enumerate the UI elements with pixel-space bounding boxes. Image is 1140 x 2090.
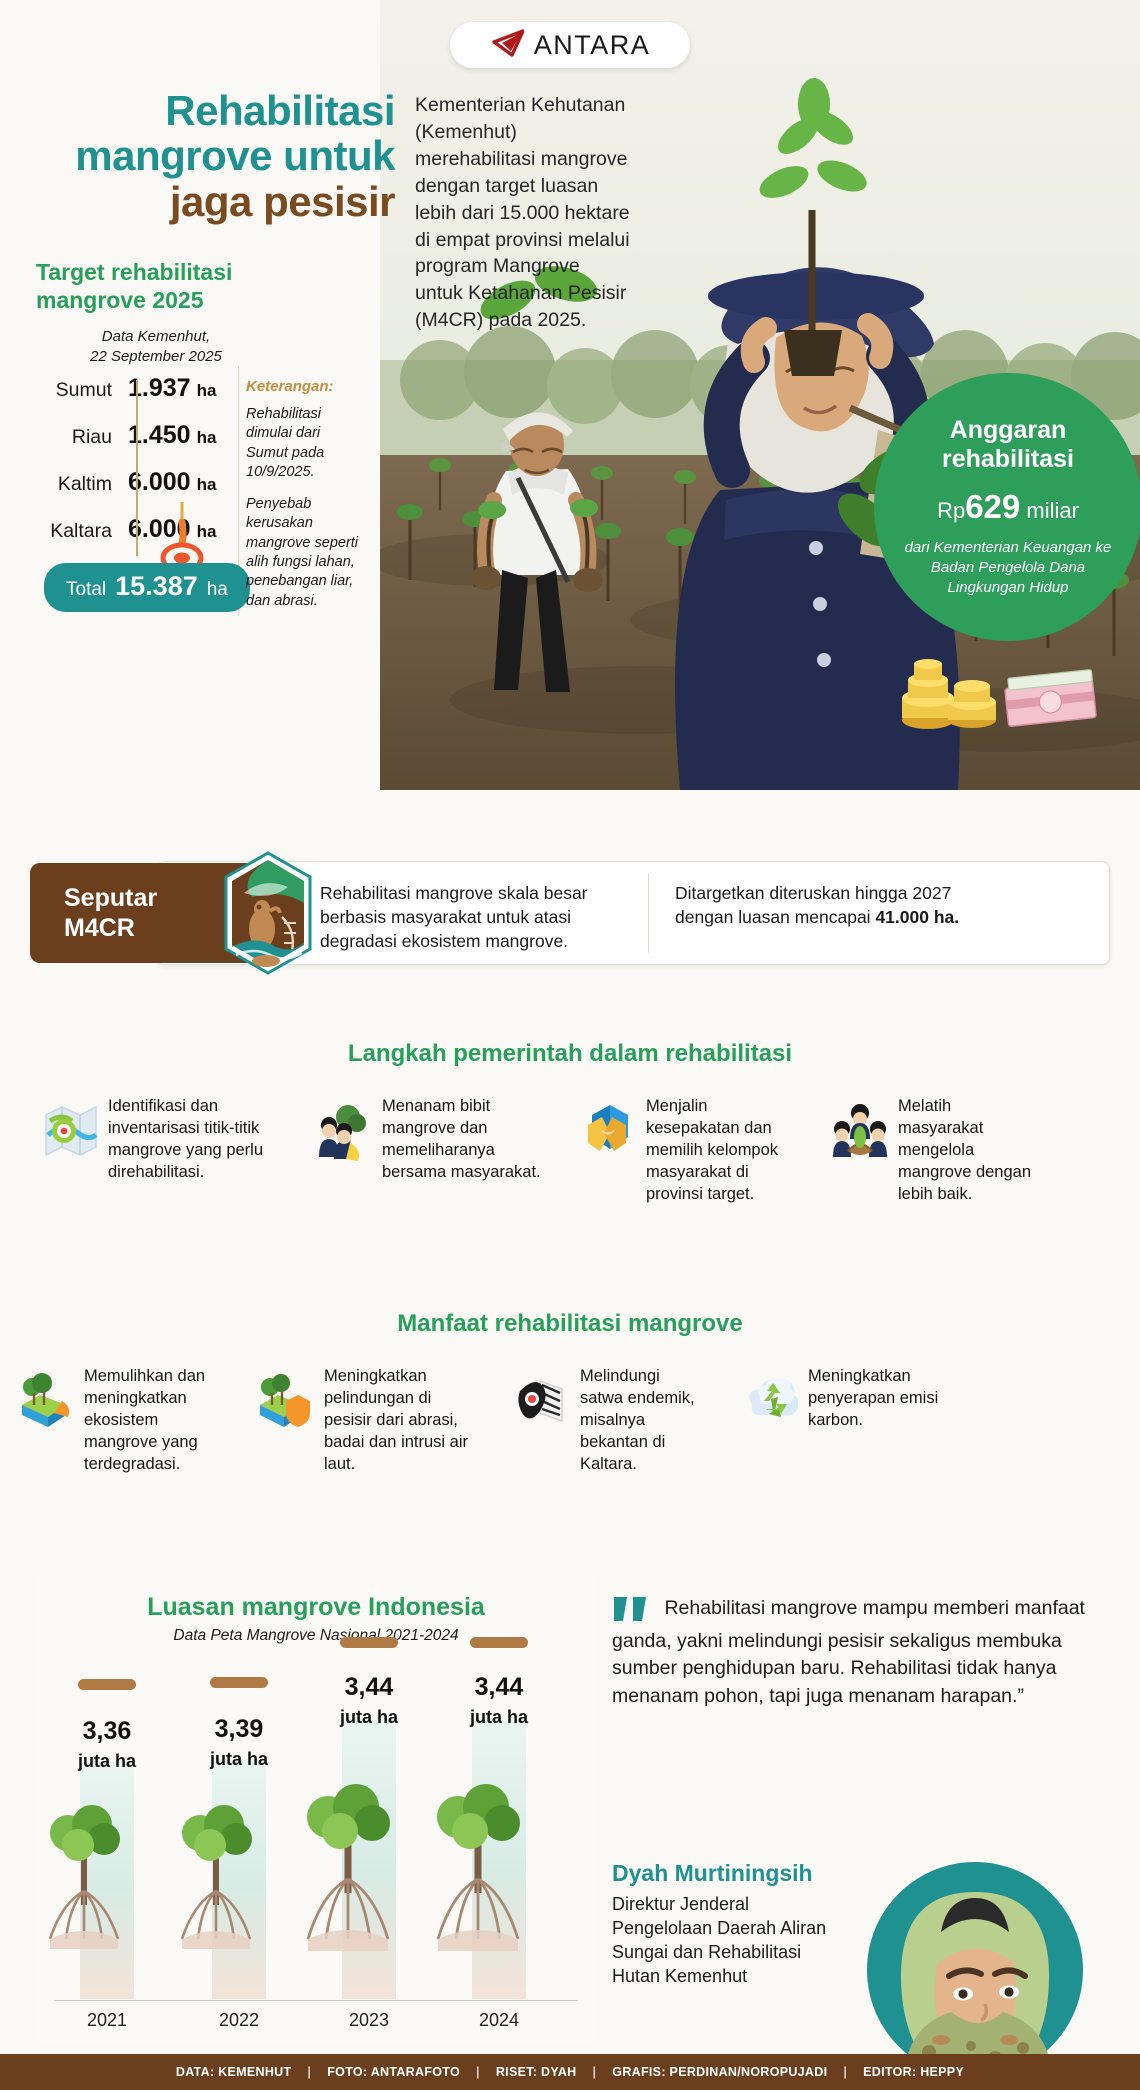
bar-group: 3,39 juta ha: [198, 1677, 280, 1999]
list-item: Meningkatkan pelindungan di pesisir dari…: [258, 1365, 480, 1476]
quote-author-role: Direktur Jenderal Pengelolaan Daerah Ali…: [612, 1893, 842, 1989]
m4cr-badge-line-2: M4CR: [64, 913, 157, 943]
people-planting-icon: [316, 1095, 372, 1165]
table-row: Riau 1.450 ha: [36, 421, 241, 468]
footer-item: RISET: DYAH: [480, 2065, 593, 2079]
list-item-label: Identifikasi dan inventarisasi titik-tit…: [108, 1095, 278, 1206]
budget-value: 629: [965, 488, 1020, 525]
m4cr-text-2-strong: 41.000 ha.: [875, 907, 959, 927]
list-item: Meningkatkan penyerapan emisi karbon.: [742, 1365, 942, 1476]
infographic-page: ANTARA Rehabilitasi mangrove untuk jaga …: [0, 0, 1140, 2090]
row-label: Kaltara: [36, 520, 128, 543]
quote-text: Rehabilitasi mangrove mampu memberi manf…: [612, 1597, 1085, 1707]
mangrove-ecosystem-icon: [18, 1365, 74, 1435]
row-label: Sumut: [36, 379, 128, 402]
footer-item: FOTO: ANTARAFOTO: [311, 2065, 476, 2079]
target-source-line-2: 22 September 2025: [36, 347, 276, 367]
footer-separator: |: [476, 2065, 480, 2079]
bar-value: 3,39: [198, 1715, 280, 1744]
steps-heading: Langkah pemerintah dalam rehabilitasi: [0, 1040, 1140, 1068]
wildlife-map-icon: [514, 1365, 570, 1435]
total-label: Total: [66, 579, 106, 601]
bar-unit: juta ha: [66, 1751, 148, 1772]
footer-separator: |: [843, 2065, 847, 2079]
antara-triangle-logo-icon: [490, 29, 524, 62]
handshake-icon: [580, 1095, 636, 1165]
list-item: Memulihkan dan meningkatkan ekosistem ma…: [18, 1365, 230, 1476]
bar-unit: juta ha: [328, 1707, 410, 1728]
coastal-shield-icon: [258, 1365, 314, 1435]
benefits-row: Memulihkan dan meningkatkan ekosistem ma…: [0, 1365, 1140, 1476]
table-row: Sumut 1.937 ha: [36, 374, 241, 421]
target-source: Data Kemenhut, 22 September 2025: [36, 327, 276, 367]
row-unit: ha: [197, 475, 217, 495]
axis-tick-label: 2023: [328, 2010, 410, 2031]
row-unit: ha: [197, 428, 217, 448]
table-row: Kaltim 6.000 ha: [36, 468, 241, 515]
title-line-3: jaga pesisir: [40, 179, 395, 224]
keterangan-block: Keterangan: Rehabilitasi dimulai dari Su…: [246, 378, 366, 624]
footer-separator: |: [307, 2065, 311, 2079]
brand-name: ANTARA: [534, 30, 651, 61]
axis-tick-label: 2024: [458, 2010, 540, 2031]
footer-item: DATA: KEMENHUT: [160, 2065, 308, 2079]
table-row: Kaltara 6.000 ha: [36, 515, 241, 562]
list-item-label: Memulihkan dan meningkatkan ekosistem ma…: [84, 1365, 230, 1476]
bar-value: 3,44: [328, 1673, 410, 1702]
budget-circle: Anggaran rehabilitasi Rp629 miliar dari …: [874, 373, 1140, 641]
bar-value: 3,36: [66, 1717, 148, 1746]
budget-amount-unit: miliar: [1026, 498, 1079, 523]
quote-author-name: Dyah Murtiningsih: [612, 1860, 813, 1887]
mangrove-area-chart: Luasan mangrove Indonesia Data Peta Mang…: [36, 1575, 596, 2045]
bar-group: 3,44 juta ha: [328, 1637, 410, 1999]
axis-tick-label: 2021: [66, 2010, 148, 2031]
list-item-label: Melindungi satwa endemik, misalnya bekan…: [580, 1365, 704, 1476]
row-label: Kaltim: [36, 473, 128, 496]
footer-credits: DATA: KEMENHUT | FOTO: ANTARAFOTO | RISE…: [0, 2054, 1140, 2090]
bar-value: 3,44: [458, 1673, 540, 1702]
list-item-label: Meningkatkan pelindungan di pesisir dari…: [324, 1365, 480, 1476]
list-item: Menjalin kesepakatan dan memilih kelompo…: [580, 1095, 802, 1206]
budget-amount: Rp629 miliar: [937, 488, 1079, 526]
total-unit: ha: [207, 579, 228, 601]
m4cr-text-1: Rehabilitasi mangrove skala besar berbas…: [320, 881, 640, 953]
keterangan-note-2: Penyebab kerusakan mangrove seperti alih…: [246, 495, 366, 611]
table-divider: [136, 380, 138, 556]
steps-row: Identifikasi dan inventarisasi titik-tit…: [0, 1095, 1140, 1206]
benefits-heading: Manfaat rehabilitasi mangrove: [0, 1310, 1140, 1338]
row-label: Riau: [36, 426, 128, 449]
target-table: Sumut 1.937 ha Riau 1.450 ha Kaltim 6.00…: [36, 374, 241, 562]
title-line-2: mangrove untuk: [40, 133, 395, 178]
list-item-label: Melatih masyarakat mengelola mangrove de…: [898, 1095, 1032, 1206]
list-item-label: Menjalin kesepakatan dan memilih kelompo…: [646, 1095, 802, 1206]
list-item: Menanam bibit mangrove dan memeliharanya…: [316, 1095, 552, 1206]
list-item-label: Meningkatkan penyerapan emisi karbon.: [808, 1365, 942, 1476]
carbon-recycle-icon: [742, 1365, 798, 1435]
target-source-line-1: Data Kemenhut,: [36, 327, 276, 347]
bar-unit: juta ha: [458, 1707, 540, 1728]
money-illustration: [880, 640, 1100, 735]
map-location-icon: [42, 1095, 98, 1165]
budget-title-line-1: Anggaran: [950, 416, 1067, 445]
m4cr-section: Seputar M4CR Rehabilitasi mangrove: [30, 855, 1110, 973]
axis-tick-label: 2022: [198, 2010, 280, 2031]
title-line-1: Rehabilitasi: [40, 88, 395, 133]
bar-unit: juta ha: [198, 1749, 280, 1770]
m4cr-badge-line-1: Seputar: [64, 883, 157, 913]
footer-item: EDITOR: HEPPY: [847, 2065, 980, 2079]
row-unit: ha: [197, 381, 217, 401]
m4cr-separator: [648, 873, 649, 953]
footer-item: GRAFIS: PERDINAN/NOROPUJADI: [596, 2065, 843, 2079]
quote-icon: [612, 1595, 652, 1628]
bar-group: 3,44 juta ha: [458, 1637, 540, 1999]
target-heading: Target rehabilitasi mangrove 2025: [36, 258, 276, 314]
m4cr-hexagon-icon: [222, 851, 314, 980]
list-item: Melindungi satwa endemik, misalnya bekan…: [514, 1365, 704, 1476]
page-title: Rehabilitasi mangrove untuk jaga pesisir: [40, 88, 395, 224]
budget-currency: Rp: [937, 498, 965, 523]
footer-separator: |: [592, 2065, 596, 2079]
intro-paragraph: Kementerian Kehutanan (Kemenhut) merehab…: [415, 92, 630, 334]
keterangan-note-1: Rehabilitasi dimulai dari Sumut pada 10/…: [246, 405, 366, 482]
list-item-label: Menanam bibit mangrove dan memeliharanya…: [382, 1095, 552, 1206]
budget-title-line-2: rehabilitasi: [942, 445, 1074, 474]
m4cr-text-2: Ditargetkan diteruskan hingga 2027 denga…: [675, 881, 975, 929]
community-training-icon: [832, 1095, 888, 1165]
total-badge: Total 15.387 ha: [44, 563, 250, 612]
bar-group: 3,36 juta ha: [66, 1679, 148, 1999]
total-value: 15.387: [115, 571, 198, 602]
chart-axis: [54, 2000, 578, 2001]
list-item: Melatih masyarakat mengelola mangrove de…: [832, 1095, 1032, 1206]
list-item: Identifikasi dan inventarisasi titik-tit…: [42, 1095, 278, 1206]
keterangan-title: Keterangan:: [246, 378, 366, 395]
antara-logo[interactable]: ANTARA: [450, 22, 690, 68]
quote-block: Rehabilitasi mangrove mampu memberi manf…: [612, 1595, 1088, 1710]
chart-title: Luasan mangrove Indonesia: [36, 1593, 596, 1622]
avatar: [845, 1840, 1105, 2070]
budget-note: dari Kementerian Keuangan ke Badan Penge…: [896, 538, 1120, 597]
